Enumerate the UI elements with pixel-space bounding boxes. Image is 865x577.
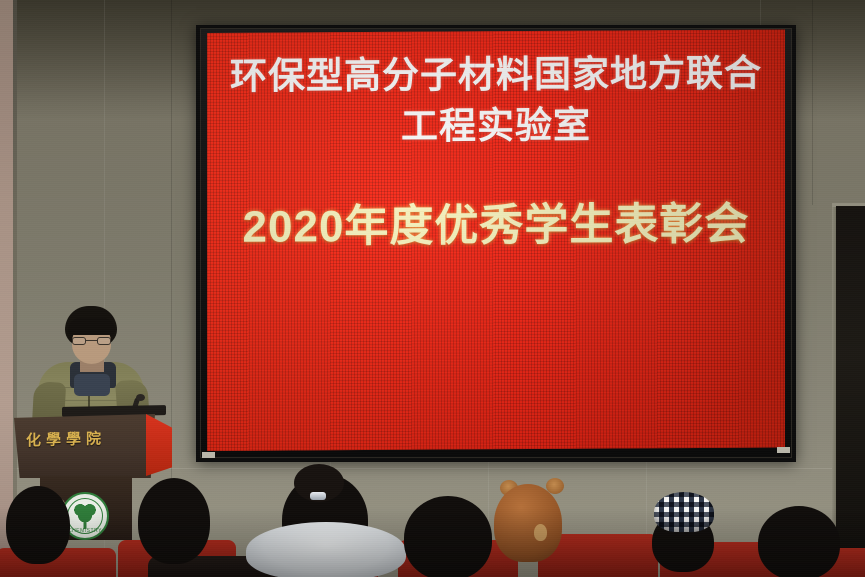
screen-mount-tab xyxy=(202,452,215,458)
glasses-icon xyxy=(72,337,111,345)
speaker-fringe xyxy=(68,318,115,335)
hair-clip-icon xyxy=(310,492,326,500)
podium-label: 化學學院 xyxy=(26,427,136,451)
bear-hat-snout-icon xyxy=(534,524,547,541)
fur-collar xyxy=(246,522,406,577)
attendee-head xyxy=(758,506,840,577)
attendee-head xyxy=(6,486,70,564)
led-title-line-2: 工程实验室 xyxy=(401,101,591,151)
microphone-icon xyxy=(136,394,145,401)
speaker-scarf xyxy=(74,374,110,396)
left-wall-edge xyxy=(13,0,17,577)
led-subtitle-line: 2020年度优秀学生表彰会 xyxy=(243,187,750,254)
bear-hat-icon xyxy=(494,484,562,562)
plaid-beret-icon xyxy=(654,492,714,532)
screen-mount-tab xyxy=(777,447,790,453)
wall-seam xyxy=(812,0,813,205)
led-screen-text-block: 环保型高分子材料国家地方联合 工程实验室 2020年度优秀学生表彰会 xyxy=(207,29,785,451)
led-title-line-1: 环保型高分子材料国家地方联合 xyxy=(230,50,762,102)
doorway-opening xyxy=(836,206,865,577)
led-screen-display: 环保型高分子材料国家地方联合 工程实验室 2020年度优秀学生表彰会 xyxy=(207,29,785,451)
attendee-head xyxy=(138,478,210,564)
left-wall-strip xyxy=(0,0,13,577)
photo-scene: 环保型高分子材料国家地方联合 工程实验室 2020年度优秀学生表彰会 化學學院 xyxy=(0,0,865,577)
attendee-head xyxy=(404,496,492,577)
